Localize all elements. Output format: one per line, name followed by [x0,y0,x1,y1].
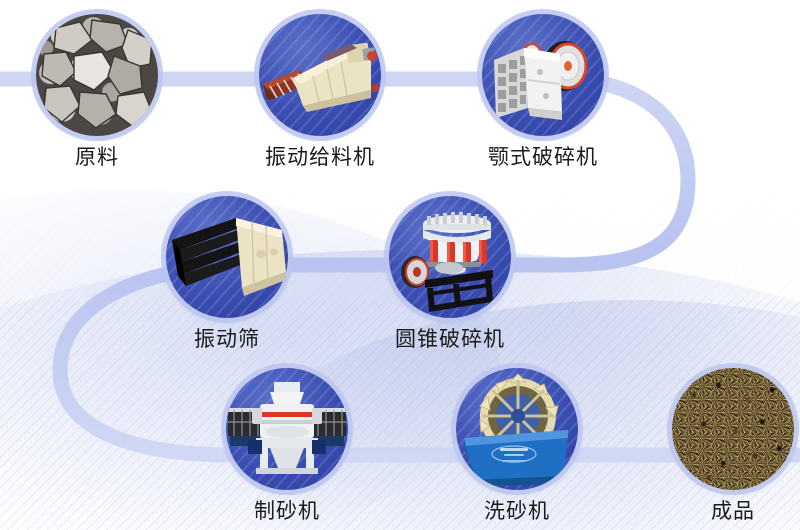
node-sand-washing-machine[interactable]: 洗砂机 [452,368,582,522]
node-label: 颚式破碎机 [478,147,608,168]
finished-sand-grain-overlay [672,368,794,490]
node-sand-making-machine[interactable]: 制砂机 [222,368,352,522]
node-label: 洗砂机 [452,501,582,522]
finished-product-disc [672,368,794,490]
raw-material-disc [36,14,158,136]
node-label: 成品 [668,501,798,522]
jaw-crusher-disc [482,14,604,136]
sand-washing-machine-disc [456,368,578,490]
vibrating-feeder-icon [259,14,381,136]
node-label: 振动筛 [162,329,292,350]
node-cone-crusher[interactable]: 圆锥破碎机 [385,196,515,350]
node-raw-material[interactable]: 原料 [32,14,162,168]
jaw-crusher-icon [482,14,604,136]
sand-maker-icon [226,368,348,490]
node-finished-product[interactable]: 成品 [668,368,798,522]
node-label: 制砂机 [222,501,352,522]
cone-crusher-icon [389,196,511,318]
sand-making-machine-disc [226,368,348,490]
sand-washer-icon [456,368,578,490]
flow-diagram: 原料 [0,0,800,530]
vibrating-screen-disc [166,196,288,318]
vibrating-screen-icon [166,196,288,318]
crushed-stone-detail [36,14,158,136]
node-label: 振动给料机 [255,147,385,168]
cone-crusher-disc [389,196,511,318]
node-label: 圆锥破碎机 [385,329,515,350]
node-label: 原料 [32,147,162,168]
node-vibrating-feeder[interactable]: 振动给料机 [255,14,385,168]
vibrating-feeder-disc [259,14,381,136]
node-vibrating-screen[interactable]: 振动筛 [162,196,292,350]
node-jaw-crusher[interactable]: 颚式破碎机 [478,14,608,168]
